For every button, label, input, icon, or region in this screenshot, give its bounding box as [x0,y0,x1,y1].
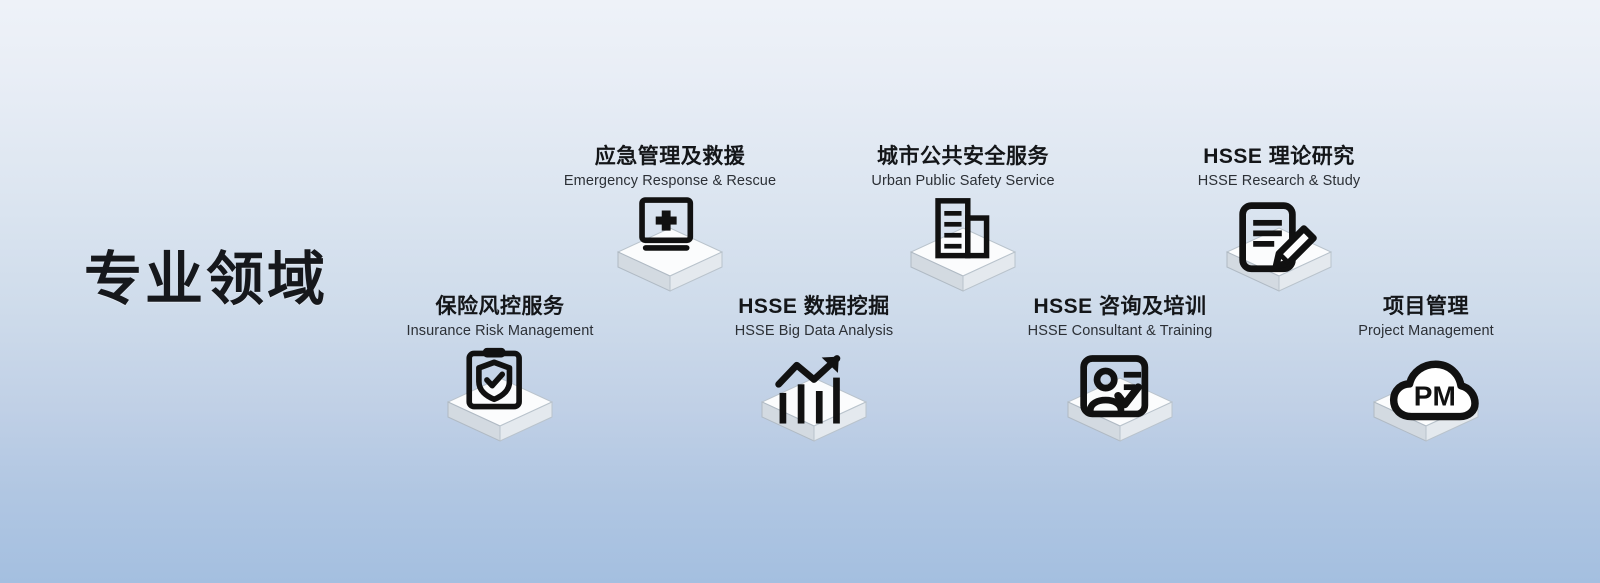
service-label-en: HSSE Consultant & Training [990,322,1250,342]
isometric-slab [908,225,1018,295]
isometric-slab [1065,375,1175,445]
service-label-cn: 项目管理 [1296,295,1556,320]
service-label-en: HSSE Research & Study [1149,172,1409,192]
service-item-hsse-consultant-training[interactable]: HSSE 咨询及培训HSSE Consultant & Training [990,295,1250,457]
service-label-en: Insurance Risk Management [370,322,630,342]
professional-fields-banner: 专业领域 应急管理及救援Emergency Response & Rescue保… [0,0,1600,583]
service-icon-pedestal [370,347,630,457]
service-item-hsse-big-data-analysis[interactable]: HSSE 数据挖掘HSSE Big Data Analysis [684,295,944,457]
service-icon-pedestal [990,347,1250,457]
service-label-cn: 应急管理及救援 [540,145,800,170]
service-label-cn: 城市公共安全服务 [833,145,1093,170]
service-label-en: HSSE Big Data Analysis [684,322,944,342]
service-icon-pedestal [1149,197,1409,307]
service-icon-pedestal [833,197,1093,307]
service-label-en: Project Management [1296,322,1556,342]
service-icon-pedestal [684,347,944,457]
service-item-hsse-research-study[interactable]: HSSE 理论研究HSSE Research & Study [1149,145,1409,307]
service-label-en: Urban Public Safety Service [833,172,1093,192]
service-icon-pedestal [1296,347,1556,457]
isometric-slab [1371,375,1481,445]
service-label-en: Emergency Response & Rescue [540,172,800,192]
service-item-project-management[interactable]: 项目管理Project Management [1296,295,1556,457]
isometric-slab [445,375,555,445]
service-item-emergency-response-rescue[interactable]: 应急管理及救援Emergency Response & Rescue [540,145,800,307]
service-label-cn: HSSE 理论研究 [1149,145,1409,170]
isometric-slab [1224,225,1334,295]
isometric-slab [759,375,869,445]
service-item-insurance-risk-management[interactable]: 保险风控服务Insurance Risk Management [370,295,630,457]
page-title: 专业领域 [84,232,328,316]
service-item-urban-public-safety-service[interactable]: 城市公共安全服务Urban Public Safety Service [833,145,1093,307]
isometric-slab [615,225,725,295]
service-label-cn: 保险风控服务 [370,295,630,320]
service-icon-pedestal [540,197,800,307]
